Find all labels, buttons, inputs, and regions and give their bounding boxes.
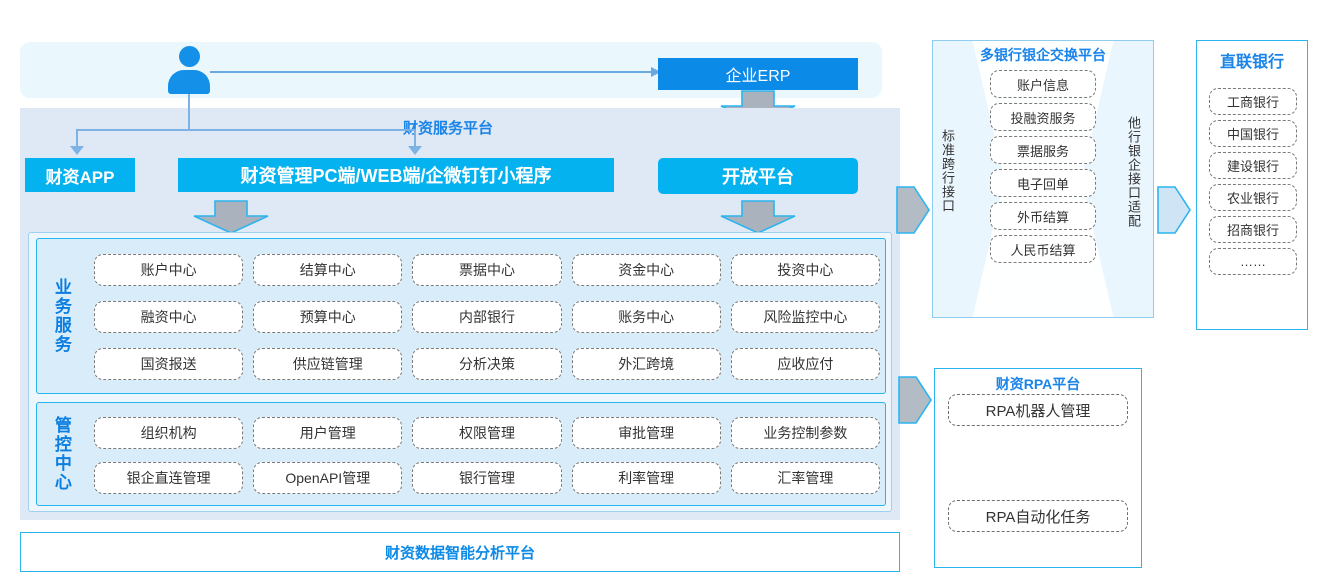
service-chip[interactable]: 应收应付 xyxy=(731,348,880,380)
exchange-chip[interactable]: 电子回单 xyxy=(990,169,1096,197)
service-chip[interactable]: 投资中心 xyxy=(731,254,880,286)
connector-tree-left-drop xyxy=(76,129,78,147)
bank-chip[interactable]: 建设银行 xyxy=(1209,152,1297,179)
bank-exchange-title: 多银行银企交换平台 xyxy=(932,45,1154,65)
arrowhead-to-app xyxy=(70,146,84,155)
rpa-automation-task-chip[interactable]: RPA自动化任务 xyxy=(948,500,1128,532)
user-person-icon xyxy=(168,46,210,94)
connector-tree-right-drop xyxy=(414,129,416,147)
arrowhead-to-pc xyxy=(408,146,422,155)
service-chip[interactable]: 国资报送 xyxy=(94,348,243,380)
exchange-chip[interactable]: 账户信息 xyxy=(990,70,1096,98)
service-chip[interactable]: 融资中心 xyxy=(94,301,243,333)
control-chip[interactable]: 用户管理 xyxy=(253,417,402,449)
service-chip[interactable]: 预算中心 xyxy=(253,301,402,333)
control-chip[interactable]: 业务控制参数 xyxy=(731,417,880,449)
bank-chip[interactable]: 农业银行 xyxy=(1209,184,1297,211)
open-platform-button[interactable]: 开放平台 xyxy=(658,158,858,194)
service-chip[interactable]: 资金中心 xyxy=(572,254,721,286)
control-center-grid: 组织机构 用户管理 权限管理 审批管理 业务控制参数 银企直连管理 OpenAP… xyxy=(94,414,880,496)
control-chip[interactable]: 银行管理 xyxy=(412,462,561,494)
control-chip[interactable]: 利率管理 xyxy=(572,462,721,494)
direct-banks-title: 直联银行 xyxy=(1196,48,1308,72)
arrow-exchange-to-direct-banks xyxy=(1157,178,1191,242)
data-analysis-platform-bar[interactable]: 财资数据智能分析平台 xyxy=(20,532,900,572)
person-head-shape xyxy=(179,46,200,67)
service-chip[interactable]: 票据中心 xyxy=(412,254,561,286)
exchange-chip[interactable]: 票据服务 xyxy=(990,136,1096,164)
business-services-label: 业务服务 xyxy=(52,254,70,378)
enterprise-erp-box[interactable]: 企业ERP xyxy=(658,58,858,90)
service-chip[interactable]: 供应链管理 xyxy=(253,348,402,380)
control-chip[interactable]: 汇率管理 xyxy=(731,462,880,494)
connector-tree-stem xyxy=(188,94,190,130)
bank-exchange-service-list: 账户信息 投融资服务 票据服务 电子回单 外币结算 人民币结算 xyxy=(990,70,1096,263)
arrow-open-to-services xyxy=(720,200,796,234)
control-chip[interactable]: 审批管理 xyxy=(572,417,721,449)
service-chip[interactable]: 账务中心 xyxy=(572,301,721,333)
exchange-chip[interactable]: 外币结算 xyxy=(990,202,1096,230)
diagram-canvas: 企业ERP 财资服务平台 财资APP 财资管理PC端/WEB端/企微钉钉小程序 … xyxy=(0,0,1329,580)
business-services-grid: 账户中心 结算中心 票据中心 资金中心 投资中心 融资中心 预算中心 内部银行 … xyxy=(94,250,880,384)
exchange-chip[interactable]: 人民币结算 xyxy=(990,235,1096,263)
arrow-app-to-services xyxy=(193,200,269,234)
rpa-platform-title: 财资RPA平台 xyxy=(934,374,1142,394)
platform-title: 财资服务平台 xyxy=(403,117,493,138)
connector-user-to-erp xyxy=(210,71,652,73)
rpa-robot-management-chip[interactable]: RPA机器人管理 xyxy=(948,394,1128,426)
treasury-app-button[interactable]: 财资APP xyxy=(25,158,135,192)
connector-tree-bar xyxy=(76,129,416,131)
service-chip[interactable]: 外汇跨境 xyxy=(572,348,721,380)
service-chip[interactable]: 账户中心 xyxy=(94,254,243,286)
bank-chip-more[interactable]: …… xyxy=(1209,248,1297,275)
other-bank-interface-adapter-label: 他行银企接口适配 xyxy=(1124,84,1143,259)
service-chip[interactable]: 分析决策 xyxy=(412,348,561,380)
service-chip[interactable]: 内部银行 xyxy=(412,301,561,333)
control-chip[interactable]: 权限管理 xyxy=(412,417,561,449)
exchange-chip[interactable]: 投融资服务 xyxy=(990,103,1096,131)
control-chip[interactable]: 银企直连管理 xyxy=(94,462,243,494)
direct-banks-list: 工商银行 中国银行 建设银行 农业银行 招商银行 …… xyxy=(1209,88,1297,275)
control-chip[interactable]: 组织机构 xyxy=(94,417,243,449)
control-chip[interactable]: OpenAPI管理 xyxy=(253,462,402,494)
bank-chip[interactable]: 工商银行 xyxy=(1209,88,1297,115)
arrow-platform-to-bank-exchange xyxy=(896,178,930,242)
bank-chip[interactable]: 中国银行 xyxy=(1209,120,1297,147)
control-center-label: 管控中心 xyxy=(52,414,70,494)
person-body-shape xyxy=(168,70,210,94)
bank-chip[interactable]: 招商银行 xyxy=(1209,216,1297,243)
treasury-pc-web-button[interactable]: 财资管理PC端/WEB端/企微钉钉小程序 xyxy=(178,158,614,192)
service-chip[interactable]: 风险监控中心 xyxy=(731,301,880,333)
arrow-platform-to-rpa xyxy=(898,368,932,432)
standard-cross-bank-interface-label: 标准跨行接口 xyxy=(938,96,957,246)
service-chip[interactable]: 结算中心 xyxy=(253,254,402,286)
